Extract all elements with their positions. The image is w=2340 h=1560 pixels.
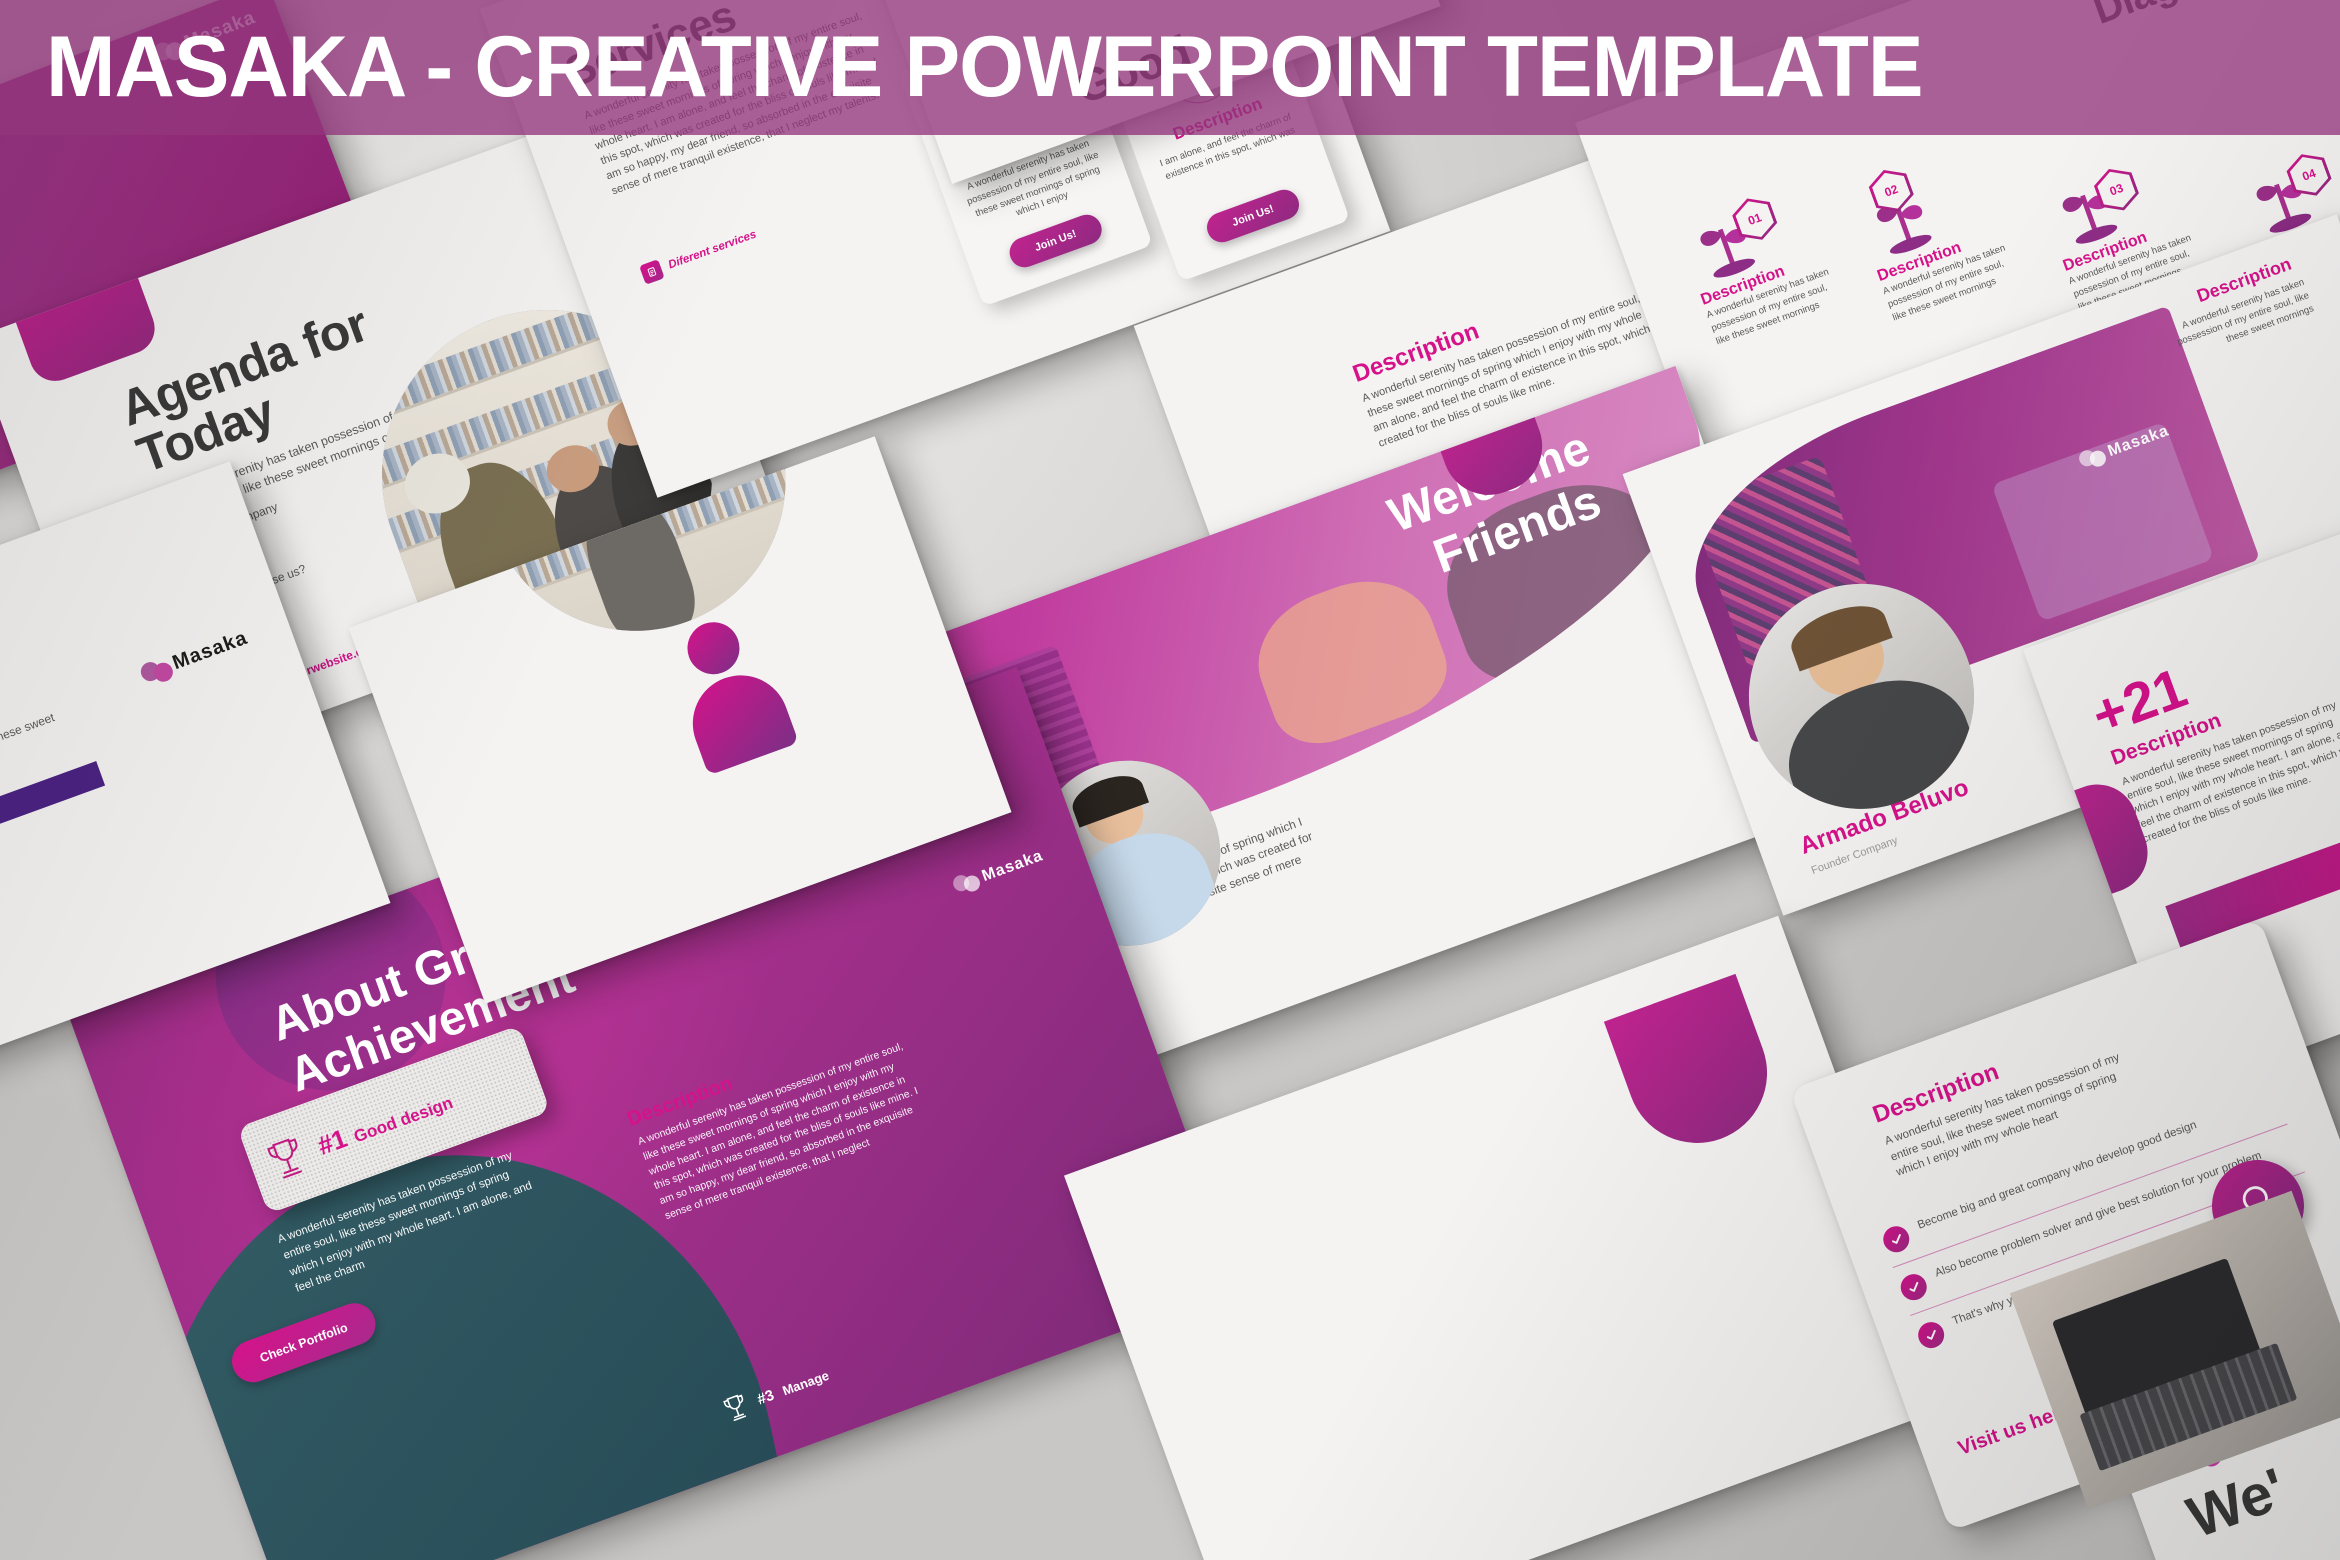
poster-canvas: Masaka Agenda for Today A wonderful sere… — [0, 0, 2340, 1560]
background-shading — [0, 0, 2340, 1560]
page-title: MASAKA - CREATIVE POWERPOINT TEMPLATE — [46, 18, 1923, 117]
title-band: MASAKA - CREATIVE POWERPOINT TEMPLATE — [0, 0, 2340, 135]
